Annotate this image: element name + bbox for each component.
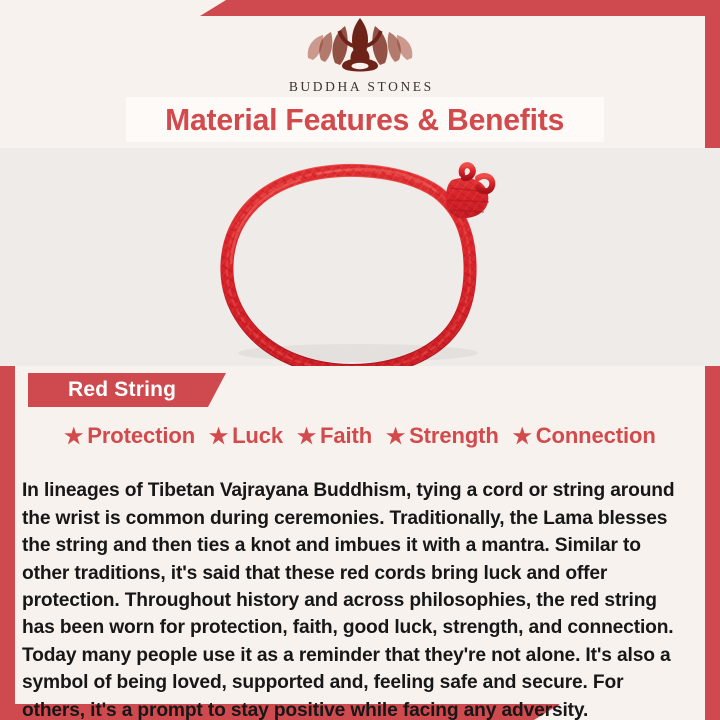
page-title: Material Features & Benefits — [166, 102, 565, 138]
title-band: Material Features & Benefits — [126, 97, 604, 142]
brand-wordmark: BUDDHA STONES — [0, 79, 720, 95]
infographic-page: BUDDHA STONES Material Features & Benefi… — [0, 0, 720, 720]
benefit-item-strength: Strength — [386, 423, 499, 449]
benefit-label: Protection — [87, 423, 195, 449]
star-icon — [297, 427, 316, 446]
benefit-label: Strength — [409, 423, 499, 449]
description-paragraph: In lineages of Tibetan Vajrayana Buddhis… — [22, 477, 691, 720]
frame-bar-right — [705, 16, 720, 720]
benefit-label: Luck — [232, 423, 283, 449]
benefits-row: Protection Luck Faith Strength Connectio… — [0, 420, 720, 452]
star-icon — [64, 427, 83, 446]
benefit-item-luck: Luck — [209, 423, 283, 449]
benefit-item-faith: Faith — [297, 423, 372, 449]
benefit-label: Connection — [536, 423, 656, 449]
product-label-banner: Red String — [28, 373, 226, 407]
star-icon — [513, 427, 532, 446]
benefit-item-connection: Connection — [513, 423, 656, 449]
star-icon — [209, 427, 228, 446]
star-icon — [386, 427, 405, 446]
brand-logo: BUDDHA STONES — [0, 14, 720, 95]
product-label-text: Red String — [28, 378, 176, 402]
red-string-bracelet-image — [0, 148, 720, 366]
benefit-label: Faith — [320, 423, 372, 449]
benefit-item-protection: Protection — [64, 423, 195, 449]
product-photo — [0, 148, 720, 366]
lotus-meditation-icon — [296, 14, 424, 76]
